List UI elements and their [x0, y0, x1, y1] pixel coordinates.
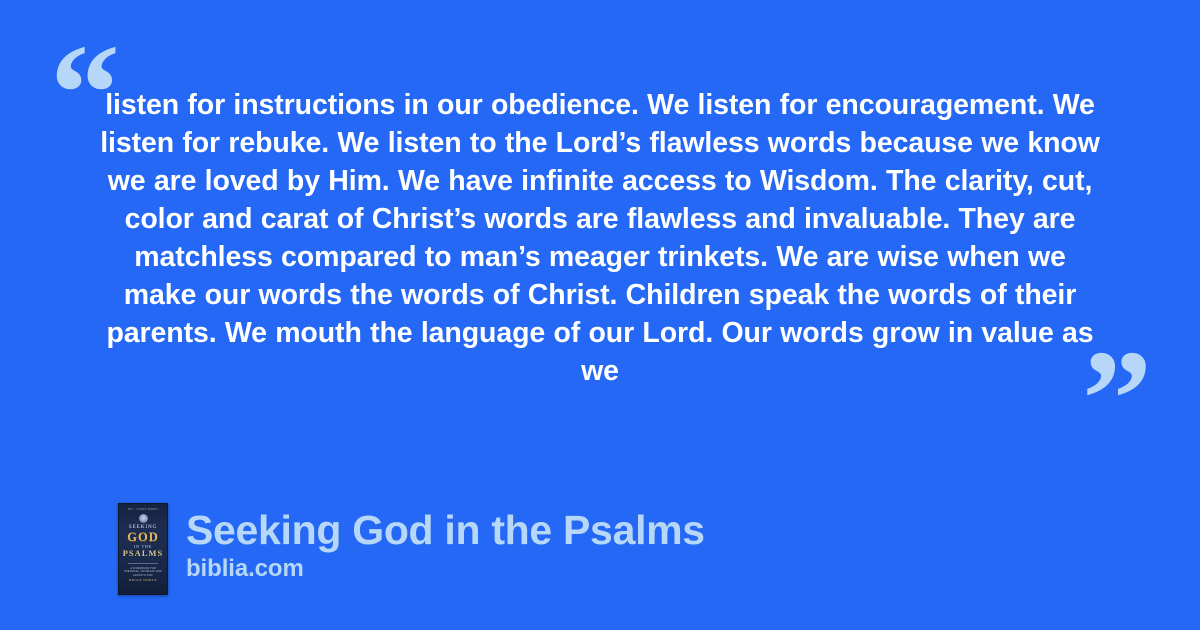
book-cover-subtitle: A WORKBOOK FOR PERSONAL, INTIMATE AND GR…	[119, 567, 167, 578]
book-title[interactable]: Seeking God in the Psalms	[186, 507, 705, 553]
book-cover-divider	[128, 563, 158, 564]
close-quote-icon: ”	[1082, 330, 1150, 470]
site-name[interactable]: biblia.com	[186, 555, 705, 583]
book-cover-line-god: GOD	[119, 531, 167, 544]
quote-text: listen for instructions in our obedience…	[100, 86, 1100, 390]
attribution-footer: NIV · STUDY SERIES SEEKING GOD IN THE PS…	[118, 503, 705, 595]
quote-card: “ listen for instructions in our obedien…	[0, 0, 1200, 630]
book-cover-thumbnail[interactable]: NIV · STUDY SERIES SEEKING GOD IN THE PS…	[118, 503, 168, 595]
attribution-text-block: Seeking God in the Psalms biblia.com	[186, 503, 705, 583]
book-cover-emblem-icon	[139, 514, 148, 523]
book-cover-line-psalms: PSALMS	[119, 549, 167, 559]
book-cover-author: BRIAN NOBLE	[119, 578, 167, 582]
book-cover-topline: NIV · STUDY SERIES	[119, 509, 167, 512]
